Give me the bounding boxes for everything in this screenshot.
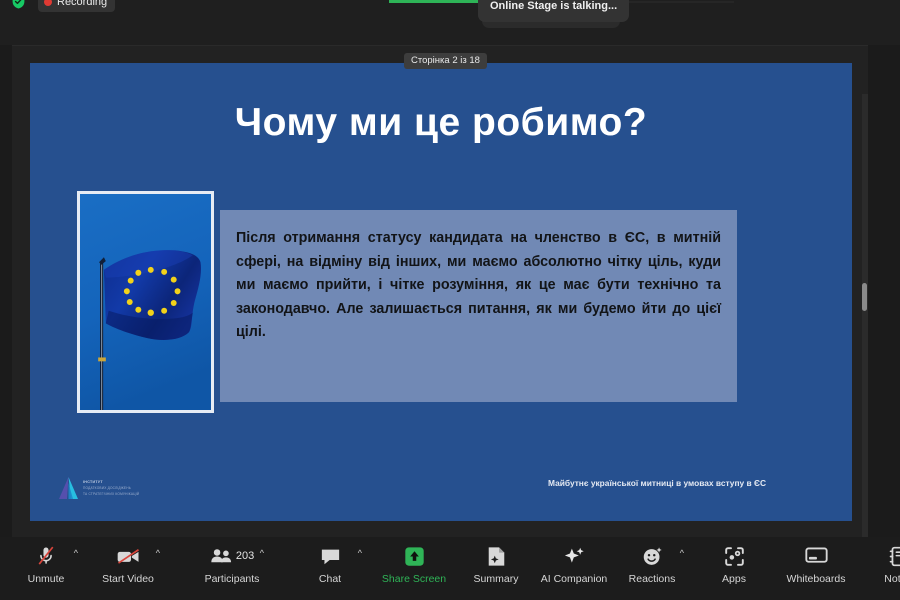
slide-page-indicator: Сторінка 2 із 18: [404, 53, 487, 69]
toolbar-label-reactions: Reactions: [629, 573, 676, 585]
apps-icon: [724, 543, 745, 569]
recording-label: Recording: [57, 0, 107, 8]
participants-count: 203: [236, 550, 254, 562]
shared-screen-stage: Чому ми це робимо?: [12, 45, 868, 537]
right-gutter: [868, 45, 900, 537]
logo-text-block: ІНСТИТУТ ПОДАТКОВИХ ДОСЛІДЖЕНЬ ТА СТРАТЕ…: [83, 480, 139, 496]
toolbar-button-reactions[interactable]: ^ Reactions: [624, 543, 680, 585]
toolbar-button-whiteboards[interactable]: Whiteboards: [788, 543, 844, 585]
toolbar-button-chat[interactable]: ^ Chat: [302, 543, 358, 585]
presentation-slide: Чому ми це робимо?: [30, 63, 852, 521]
toolbar-label-notes: Notes: [884, 573, 900, 585]
active-speaker-banner: Online Stage is talking...: [478, 0, 629, 22]
meeting-controls-toolbar: ^ Unmute ^ Start Video: [0, 537, 900, 600]
microphone-muted-icon: [35, 543, 57, 569]
toolbar-label-ai-companion: AI Companion: [541, 573, 608, 585]
video-off-icon: [116, 543, 141, 569]
zoom-meeting-window: Recording Online Stage is talking... Чом…: [0, 0, 900, 600]
toolbar-button-unmute[interactable]: ^ Unmute: [18, 543, 74, 585]
toolbar-button-apps[interactable]: Apps: [706, 543, 762, 585]
participants-icon-row: 203: [210, 543, 254, 569]
toolbar-button-summary[interactable]: Summary: [468, 543, 524, 585]
chat-options-caret-icon[interactable]: ^: [358, 549, 362, 558]
toolbar-label-participants: Participants: [205, 573, 260, 585]
participants-icon: [210, 548, 233, 564]
unmute-options-caret-icon[interactable]: ^: [74, 549, 78, 558]
toolbar-label-start-video: Start Video: [102, 573, 154, 585]
toolbar-label-summary: Summary: [474, 573, 519, 585]
toolbar-button-share-screen[interactable]: Share Screen: [386, 543, 442, 585]
ai-sparkle-icon: [563, 543, 586, 569]
toolbar-label-unmute: Unmute: [28, 573, 65, 585]
chat-icon: [320, 543, 341, 569]
video-options-caret-icon[interactable]: ^: [156, 549, 160, 558]
logo-line-1: ІНСТИТУТ: [83, 480, 139, 484]
share-screen-icon: [404, 543, 425, 569]
whiteboard-icon: [805, 543, 828, 569]
meeting-top-bar: Recording Online Stage is talking...: [0, 0, 900, 45]
institute-logo: ІНСТИТУТ ПОДАТКОВИХ ДОСЛІДЖЕНЬ ТА СТРАТЕ…: [59, 477, 139, 499]
notes-icon: [889, 543, 900, 569]
logo-line-3: ТА СТРАТЕГІЧНИХ КОМУНІКАЦІЙ: [83, 492, 139, 496]
toolbar-label-share-screen: Share Screen: [382, 573, 446, 585]
toolbar-button-start-video[interactable]: ^ Start Video: [100, 543, 156, 585]
shield-icon[interactable]: [12, 0, 25, 9]
toolbar-button-ai-companion[interactable]: AI Companion: [546, 543, 602, 585]
toolbar-button-participants[interactable]: 203 ^ Participants: [204, 543, 260, 585]
eu-flag-image: [80, 194, 211, 410]
participants-options-caret-icon[interactable]: ^: [260, 549, 264, 558]
recording-indicator[interactable]: Recording: [38, 0, 115, 12]
toolbar-button-notes[interactable]: Notes: [870, 543, 900, 585]
toolbar-label-apps: Apps: [722, 573, 746, 585]
logo-line-2: ПОДАТКОВИХ ДОСЛІДЖЕНЬ: [83, 486, 139, 490]
recording-dot-icon: [44, 0, 52, 6]
slide-body-text: Після отримання статусу кандидата на чле…: [236, 227, 721, 345]
toolbar-label-whiteboards: Whiteboards: [787, 573, 846, 585]
slide-footer-text: Майбутнє української митниці в умовах вс…: [548, 478, 766, 488]
reactions-icon: [642, 543, 663, 569]
toolbar-label-chat: Chat: [319, 573, 341, 585]
eu-flag-photo: [77, 191, 214, 413]
slide-title: Чому ми це робимо?: [30, 101, 852, 145]
stage-scrollbar-thumb[interactable]: [862, 283, 867, 311]
reactions-options-caret-icon[interactable]: ^: [680, 549, 684, 558]
summary-icon: [487, 543, 506, 569]
logo-mark-icon: [59, 477, 78, 499]
slide-body-textbox: Після отримання статусу кандидата на чле…: [220, 210, 737, 402]
